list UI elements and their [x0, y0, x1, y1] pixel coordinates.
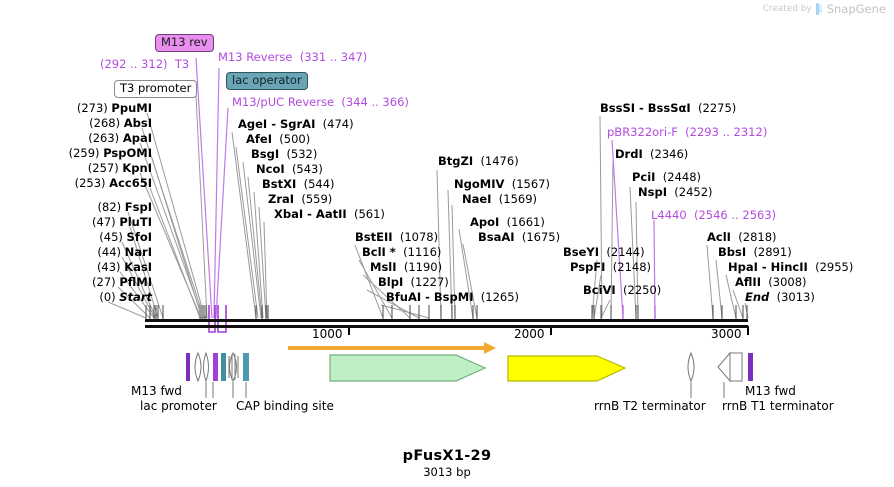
right-feature-glyphs: [688, 353, 753, 381]
smr-arrow-glyph: [330, 355, 485, 381]
promoter-arrow-glyph: [288, 342, 496, 354]
left-feature-glyphs: [186, 353, 249, 381]
feature-track: [0, 0, 894, 487]
plasmid-map: Created by SnapGene: [0, 0, 894, 487]
ori-arrow-glyph: [508, 356, 625, 381]
